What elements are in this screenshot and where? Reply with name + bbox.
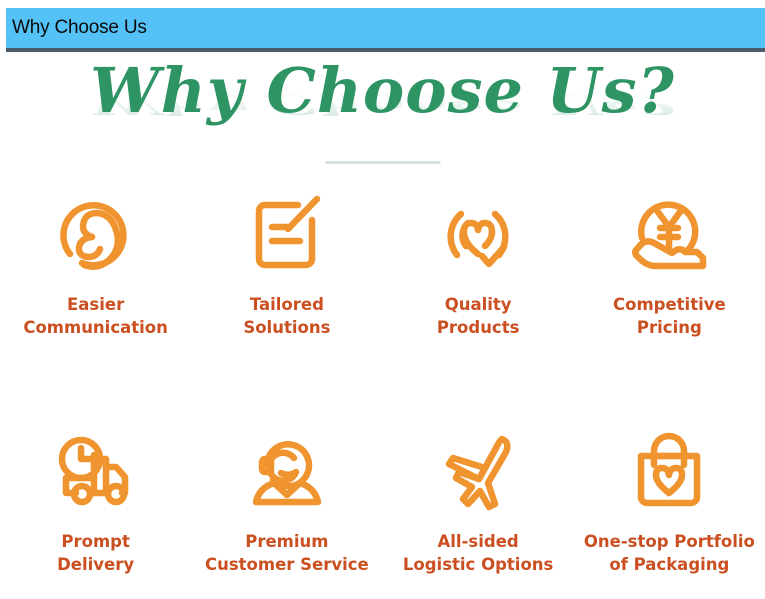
page-title: Why Choose Us xyxy=(12,17,147,39)
shopping-bag-heart-icon xyxy=(619,423,719,519)
feature-label: Competitive Pricing xyxy=(613,293,726,339)
feature-card-quality-products[interactable]: Quality Products xyxy=(383,182,574,339)
feature-card-all-sided-logistic-options[interactable]: All-sided Logistic Options xyxy=(383,423,574,576)
delivery-truck-clock-icon xyxy=(46,423,146,519)
hand-holding-yen-coin-icon xyxy=(619,182,719,282)
feature-label: Easier Communication xyxy=(23,293,168,339)
feature-card-prompt-delivery[interactable]: Prompt Delivery xyxy=(0,423,191,576)
feature-label: All-sided Logistic Options xyxy=(403,530,554,576)
feature-label: Prompt Delivery xyxy=(57,530,134,576)
headset-agent-icon xyxy=(237,423,337,519)
window-title-bar: Why Choose Us xyxy=(6,8,765,52)
feature-card-tailored-solutions[interactable]: Tailored Solutions xyxy=(191,182,382,339)
feature-label: Tailored Solutions xyxy=(243,293,330,339)
airplane-icon xyxy=(428,423,528,519)
features-row-1: Easier Communication Tailored Solutions xyxy=(0,182,765,339)
feature-card-competitive-pricing[interactable]: Competitive Pricing xyxy=(574,182,765,339)
features-grid: Easier Communication Tailored Solutions xyxy=(0,182,765,576)
hero-divider xyxy=(325,161,440,164)
feature-card-easier-communication[interactable]: Easier Communication xyxy=(0,182,191,339)
heart-soundwave-check-icon xyxy=(428,182,528,282)
document-pencil-icon xyxy=(237,182,337,282)
feature-card-one-stop-portfolio-of-packaging[interactable]: One-stop Portfolio of Packaging xyxy=(574,423,765,576)
features-row-2: Prompt Delivery Premium Customer Service xyxy=(0,423,765,576)
feature-label: Premium Customer Service xyxy=(205,530,369,576)
feature-label: One-stop Portfolio of Packaging xyxy=(584,530,755,576)
hero-heading: Why Choose Us? xyxy=(0,60,765,122)
ear-listening-icon xyxy=(46,182,146,282)
feature-card-premium-customer-service[interactable]: Premium Customer Service xyxy=(191,423,382,576)
page-content: Why Choose Us? Why Choose Us? Easier Com… xyxy=(0,56,765,599)
feature-label: Quality Products xyxy=(437,293,520,339)
hero-section: Why Choose Us? Why Choose Us? xyxy=(0,56,765,164)
